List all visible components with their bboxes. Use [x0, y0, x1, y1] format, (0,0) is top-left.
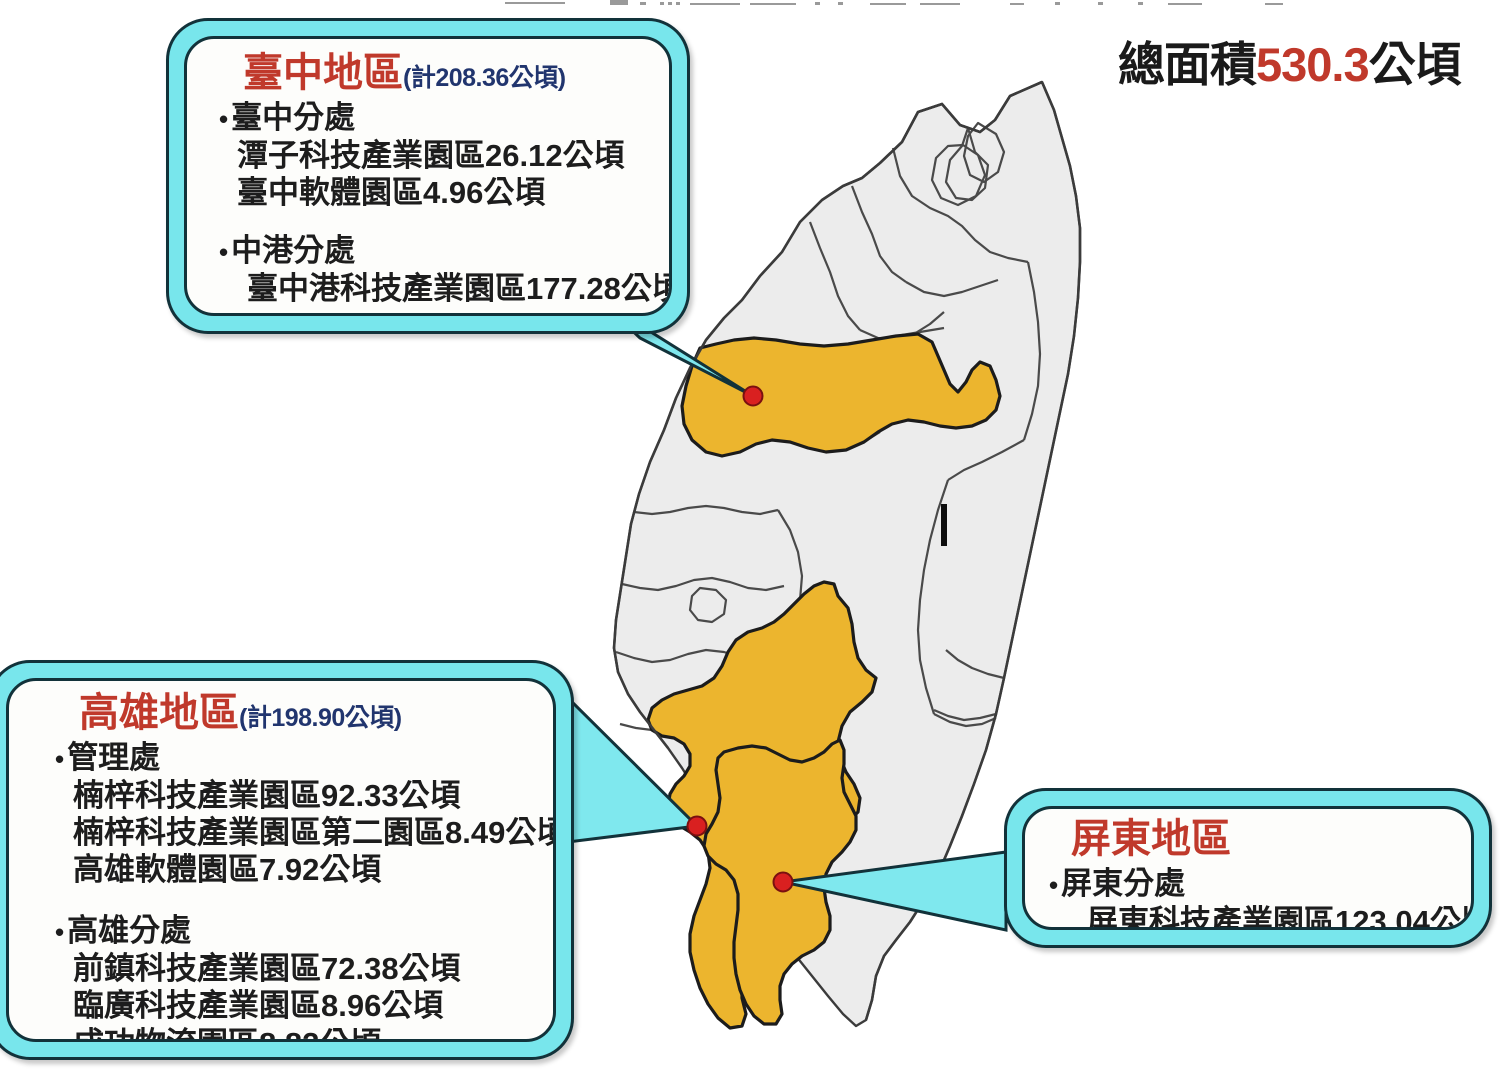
total-area-unit: 公頃: [1369, 38, 1461, 91]
callout-kaohsiung-title: 高雄地區(計198.90公頃): [79, 693, 537, 733]
branch-item: 中港分處 臺中港科技產業園區177.28公頃: [205, 232, 653, 307]
callout-pingtung-title: 屏東地區: [1071, 819, 1455, 859]
cropped-text-artifacts: [0, 0, 1504, 10]
region-subtotal: (計198.90公頃): [239, 704, 402, 732]
park-item: 楠梓科技產業園區第二園區8.49公頃: [27, 814, 537, 851]
callout-kaohsiung[interactable]: 高雄地區(計198.90公頃) 管理處 楠梓科技產業園區92.33公頃 楠梓科技…: [0, 660, 574, 1060]
park-item: 屏東科技產業園區123.04公頃: [1043, 903, 1455, 930]
callout-taichung-title: 臺中地區(計208.36公頃): [243, 53, 653, 93]
region-subtotal: (計208.36公頃): [403, 64, 566, 92]
branch-name: 高雄分處: [27, 912, 537, 950]
total-area-title: 總面積530.3公頃: [1118, 26, 1461, 95]
branch-item: 高雄分處 前鎮科技產業園區72.38公頃 臨廣科技產業園區8.96公頃 成功物流…: [27, 912, 537, 1042]
branch-name: 臺中分處: [205, 99, 653, 137]
marker-taichung: [744, 387, 763, 406]
region-title: 屏東地區: [1071, 817, 1231, 861]
park-item: 潭子科技產業園區26.12公頃: [205, 137, 653, 174]
branch-name: 屏東分處: [1043, 865, 1455, 903]
park-item: 高雄軟體園區7.92公頃: [27, 851, 537, 888]
slide-canvas: 總面積530.3公頃 臺中地區(計208.36公頃) 臺中分處 潭子科技產業園區…: [0, 0, 1504, 1070]
callout-pingtung-panel: 屏東地區 屏東分處 屏東科技產業園區123.04公頃: [1022, 806, 1474, 930]
total-area-value: 530.3: [1256, 38, 1369, 91]
park-item: 臺中港科技產業園區177.28公頃: [205, 270, 653, 307]
text-caret-artifact: [941, 504, 947, 546]
park-item: 臺中軟體園區4.96公頃: [205, 174, 653, 211]
branch-name: 中港分處: [205, 232, 653, 270]
branch-name: 管理處: [27, 739, 537, 777]
callout-pingtung[interactable]: 屏東地區 屏東分處 屏東科技產業園區123.04公頃: [1004, 788, 1492, 948]
park-item: 臨廣科技產業園區8.96公頃: [27, 987, 537, 1024]
marker-kaohsiung: [688, 817, 707, 836]
park-item: 前鎮科技產業園區72.38公頃: [27, 950, 537, 987]
spacer: [27, 892, 537, 912]
park-item: 成功物流園區8.82公頃: [27, 1025, 537, 1042]
total-area-prefix: 總面積: [1118, 38, 1256, 91]
park-item: 楠梓科技產業園區92.33公頃: [27, 777, 537, 814]
branch-item: 管理處 楠梓科技產業園區92.33公頃 楠梓科技產業園區第二園區8.49公頃 高…: [27, 739, 537, 888]
spacer: [205, 215, 653, 232]
region-title: 高雄地區: [79, 691, 239, 735]
marker-pingtung: [774, 873, 793, 892]
callout-taichung[interactable]: 臺中地區(計208.36公頃) 臺中分處 潭子科技產業園區26.12公頃 臺中軟…: [166, 18, 690, 334]
region-title: 臺中地區: [243, 51, 403, 95]
branch-item: 臺中分處 潭子科技產業園區26.12公頃 臺中軟體園區4.96公頃: [205, 99, 653, 211]
callout-kaohsiung-panel: 高雄地區(計198.90公頃) 管理處 楠梓科技產業園區92.33公頃 楠梓科技…: [6, 678, 556, 1042]
callout-taichung-panel: 臺中地區(計208.36公頃) 臺中分處 潭子科技產業園區26.12公頃 臺中軟…: [184, 36, 672, 316]
branch-item: 屏東分處 屏東科技產業園區123.04公頃: [1043, 865, 1455, 930]
